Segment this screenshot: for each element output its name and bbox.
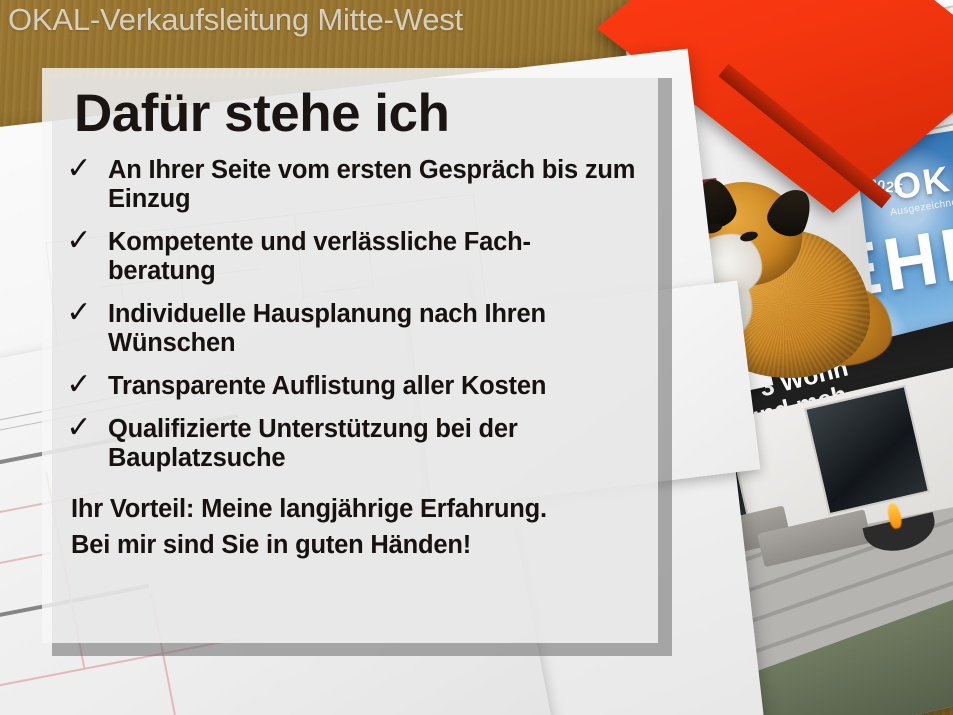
closing-line-2: Bei mir sind Sie in guten Händen! (71, 527, 636, 563)
checkmark-icon: ✓ (64, 371, 94, 400)
content-panel: Dafür stehe ich ✓ An Ihrer Seite vom ers… (42, 68, 658, 643)
closing-line-1: Ihr Vorteil: Meine langjährige Erfahrung… (71, 491, 636, 527)
benefits-list: ✓ An Ihrer Seite vom ersten Gespräch bis… (64, 156, 636, 474)
list-item-label: Individuelle Hausplanung nach Ihren Wüns… (108, 300, 636, 358)
photo-slide: MEHR 15.03. – 31.12.2025 OKAL Ausgezeich… (0, 0, 953, 715)
list-item-label: An Ihrer Seite vom ersten Gespräch bis z… (108, 156, 636, 214)
list-item-label: Kompetente und verlässliche Fach-beratun… (108, 228, 636, 286)
list-item: ✓ Qualifizierte Unterstützung bei der Ba… (64, 415, 636, 473)
page-title: OKAL-Verkaufsleitung Mitte-West (0, 2, 471, 38)
list-item-label: Transparente Auflistung aller Kosten (108, 372, 546, 401)
list-item: ✓ Transparente Auflistung aller Kosten (64, 372, 636, 401)
checkmark-icon: ✓ (64, 299, 94, 328)
closing-statement: Ihr Vorteil: Meine langjährige Erfahrung… (71, 491, 636, 563)
checkmark-icon: ✓ (64, 227, 94, 256)
fox-eye-right (739, 230, 759, 243)
panel-heading: Dafür stehe ich (74, 86, 636, 142)
list-item: ✓ Kompetente und verlässliche Fach-berat… (64, 228, 636, 286)
list-item: ✓ An Ihrer Seite vom ersten Gespräch bis… (64, 156, 636, 214)
checkmark-icon: ✓ (64, 414, 94, 443)
checkmark-icon: ✓ (64, 155, 94, 184)
list-item-label: Qualifizierte Unterstützung bei der Baup… (108, 415, 636, 473)
list-item: ✓ Individuelle Hausplanung nach Ihren Wü… (64, 300, 636, 358)
